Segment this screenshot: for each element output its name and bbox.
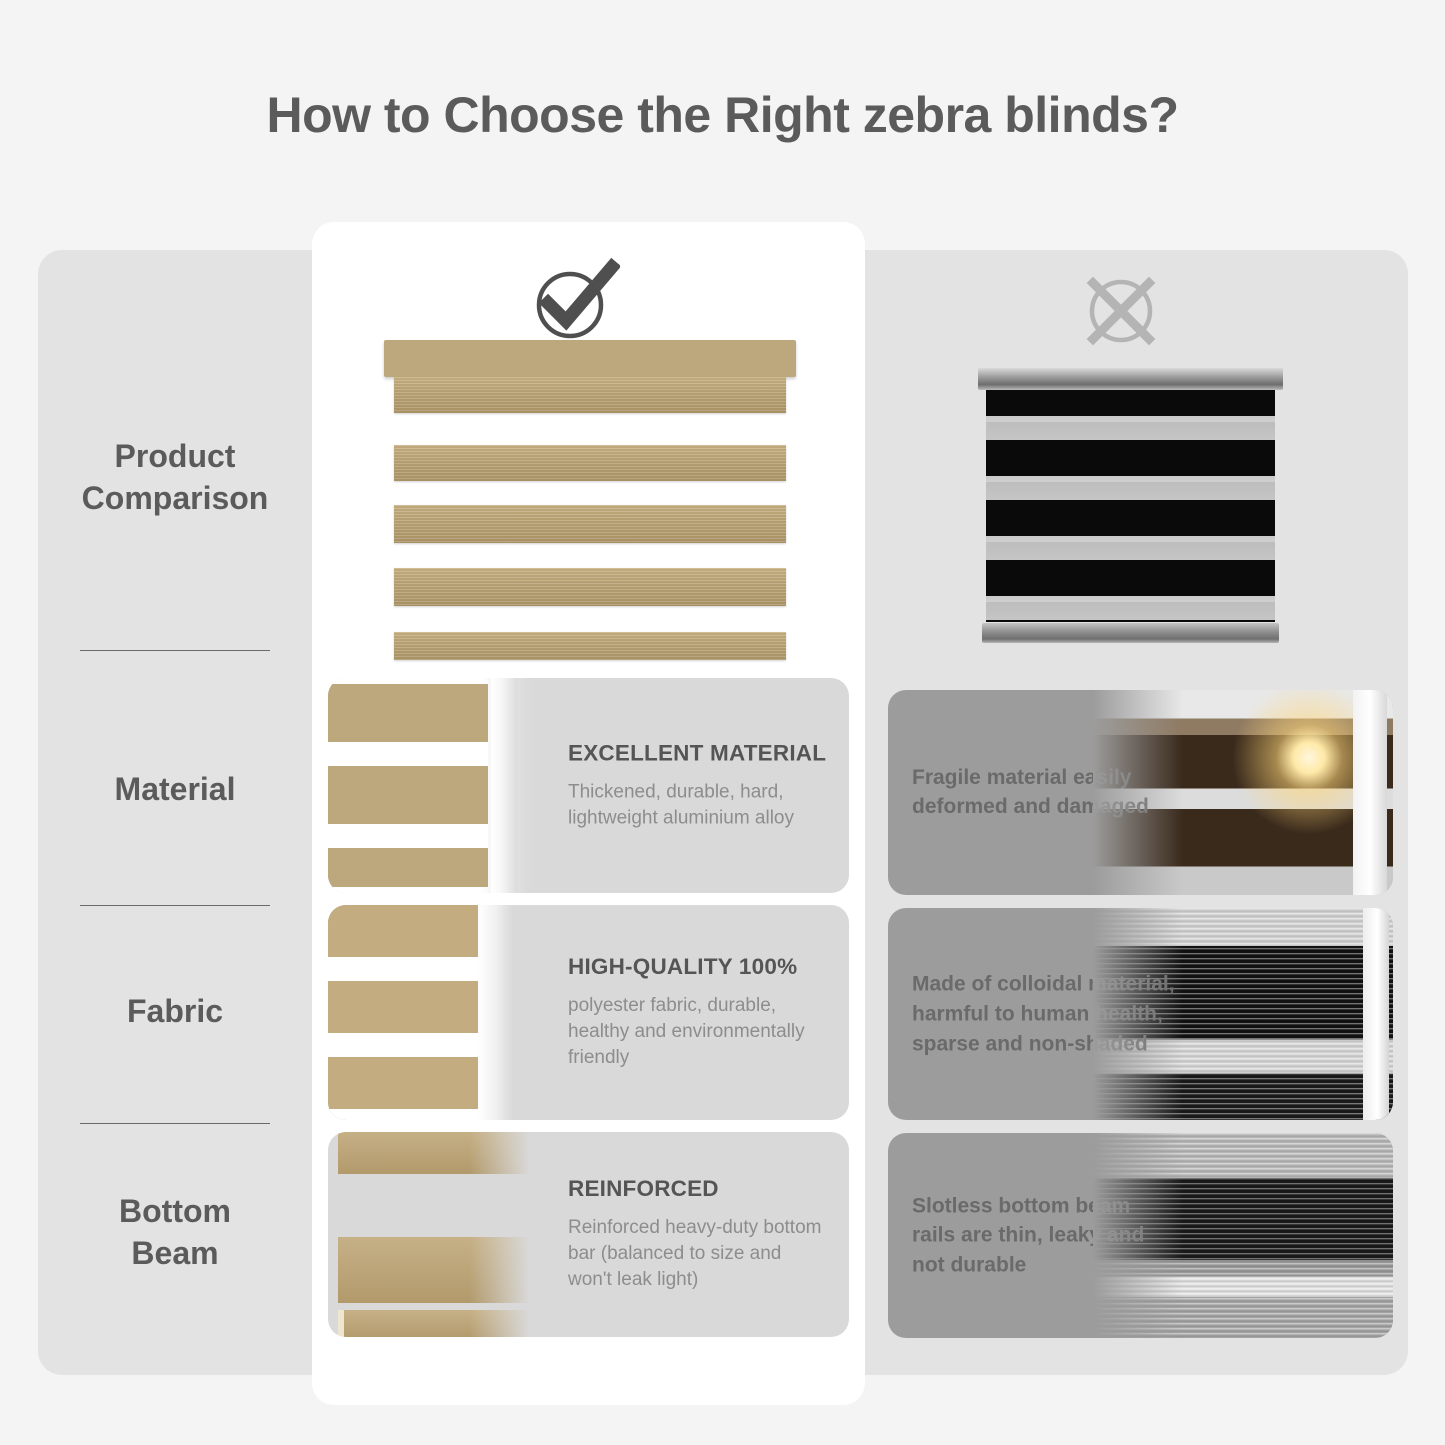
good-product-image xyxy=(384,340,796,665)
blind-slat xyxy=(394,445,786,481)
blind-fabric xyxy=(986,382,1275,622)
feature-body: Thickened, durable, hard, lightweight al… xyxy=(568,779,830,831)
row-divider xyxy=(80,650,270,651)
feature-text: REINFORCED Reinforced heavy-duty bottom … xyxy=(568,1176,830,1294)
headrail xyxy=(978,368,1283,390)
feature-title: REINFORCED xyxy=(568,1176,830,1202)
blind-slat xyxy=(394,377,786,413)
row-label-fabric: Fabric xyxy=(38,990,312,1032)
tan-fabric-photo xyxy=(328,905,540,1120)
check-circle-icon xyxy=(528,253,620,345)
feature-card-bottom-beam: REINFORCED Reinforced heavy-duty bottom … xyxy=(328,1132,849,1337)
row-divider xyxy=(80,905,270,906)
row-label-line-1: Product xyxy=(115,438,236,474)
drawback-card-fabric: Made of colloidal material, harmful to h… xyxy=(888,908,1393,1120)
blind-slat xyxy=(394,505,786,543)
feature-title: HIGH-QUALITY 100% xyxy=(568,954,830,980)
sunlight-leak-photo xyxy=(1093,690,1393,895)
headrail xyxy=(384,340,796,377)
feature-card-fabric: HIGH-QUALITY 100% polyester fabric, dura… xyxy=(328,905,849,1120)
feature-text: HIGH-QUALITY 100% polyester fabric, dura… xyxy=(568,954,830,1072)
blind-slat xyxy=(394,568,786,606)
drawback-card-material: Fragile material easily deformed and dam… xyxy=(888,690,1393,895)
feature-body: polyester fabric, durable, healthy and e… xyxy=(568,993,830,1072)
row-label-column: Product Comparison Material Fabric Botto… xyxy=(38,250,312,1375)
tan-blind-window-photo xyxy=(328,678,540,893)
sparse-fabric-photo xyxy=(1093,908,1393,1120)
feature-title: EXCELLENT MATERIAL xyxy=(568,740,830,766)
row-label-material: Material xyxy=(38,768,312,810)
row-divider xyxy=(80,1123,270,1124)
bottom-bar xyxy=(982,623,1279,643)
feature-body: Reinforced heavy-duty bottom bar (balanc… xyxy=(568,1215,830,1294)
thin-rail-photo xyxy=(1093,1133,1393,1338)
bad-product-image xyxy=(978,368,1283,643)
feature-text: EXCELLENT MATERIAL Thickened, durable, h… xyxy=(568,740,830,831)
row-label-line-2: Beam xyxy=(131,1235,218,1271)
bottom-bar xyxy=(394,632,786,660)
row-label-bottom-beam: Bottom Beam xyxy=(38,1190,312,1274)
page-title: How to Choose the Right zebra blinds? xyxy=(0,86,1445,144)
feature-card-material: EXCELLENT MATERIAL Thickened, durable, h… xyxy=(328,678,849,893)
row-label-product-comparison: Product Comparison xyxy=(38,435,312,519)
reinforced-bar-photo xyxy=(328,1132,540,1337)
row-label-line-2: Comparison xyxy=(82,480,269,516)
row-label-line-1: Bottom xyxy=(119,1193,231,1229)
drawback-card-bottom-beam: Slotless bottom beam rails are thin, lea… xyxy=(888,1133,1393,1338)
